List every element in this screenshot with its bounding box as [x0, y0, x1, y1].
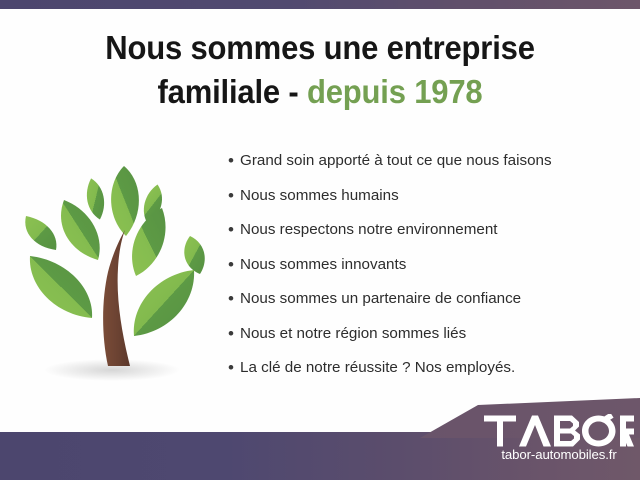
tabor-wordmark-icon [484, 414, 634, 448]
bullet-icon: • [228, 357, 240, 378]
tree-trunk [103, 230, 130, 366]
logo-tagline: tabor-automobiles.fr [484, 447, 634, 462]
headline-line-2: familiale - depuis 1978 [19, 70, 621, 114]
list-item-label: Nous respectons notre environnement [240, 219, 498, 240]
list-item: • La clé de notre réussite ? Nos employé… [228, 357, 632, 378]
top-accent-strip [0, 0, 640, 9]
bullet-icon: • [228, 219, 240, 240]
list-item: • Nous sommes humains [228, 185, 632, 206]
slide-canvas: Nous sommes une entreprise familiale - d… [0, 0, 640, 480]
bullet-icon: • [228, 254, 240, 275]
list-item: • Nous et notre région sommes liés [228, 323, 632, 344]
brand-logo: tabor-automobiles.fr [484, 414, 634, 472]
headline-line-2-prefix: familiale - [157, 73, 298, 110]
bullet-icon: • [228, 323, 240, 344]
benefits-list: • Grand soin apporté à tout ce que nous … [228, 150, 632, 392]
list-item-label: Nous et notre région sommes liés [240, 323, 466, 344]
tree-icon [12, 148, 224, 390]
list-item: • Nous respectons notre environnement [228, 219, 632, 240]
bullet-icon: • [228, 288, 240, 309]
list-item-label: La clé de notre réussite ? Nos employés. [240, 357, 515, 378]
headline-accent-year: depuis 1978 [307, 73, 483, 110]
tree-illustration [12, 148, 224, 390]
list-item-label: Nous sommes un partenaire de confiance [240, 288, 521, 309]
list-item: • Grand soin apporté à tout ce que nous … [228, 150, 632, 171]
list-item: • Nous sommes innovants [228, 254, 632, 275]
headline-line-1: Nous sommes une entreprise [19, 26, 621, 70]
page-title: Nous sommes une entreprise familiale - d… [19, 26, 621, 113]
list-item: • Nous sommes un partenaire de confiance [228, 288, 632, 309]
list-item-label: Grand soin apporté à tout ce que nous fa… [240, 150, 552, 171]
list-item-label: Nous sommes humains [240, 185, 399, 206]
bullet-icon: • [228, 185, 240, 206]
list-item-label: Nous sommes innovants [240, 254, 406, 275]
bullet-icon: • [228, 150, 240, 171]
